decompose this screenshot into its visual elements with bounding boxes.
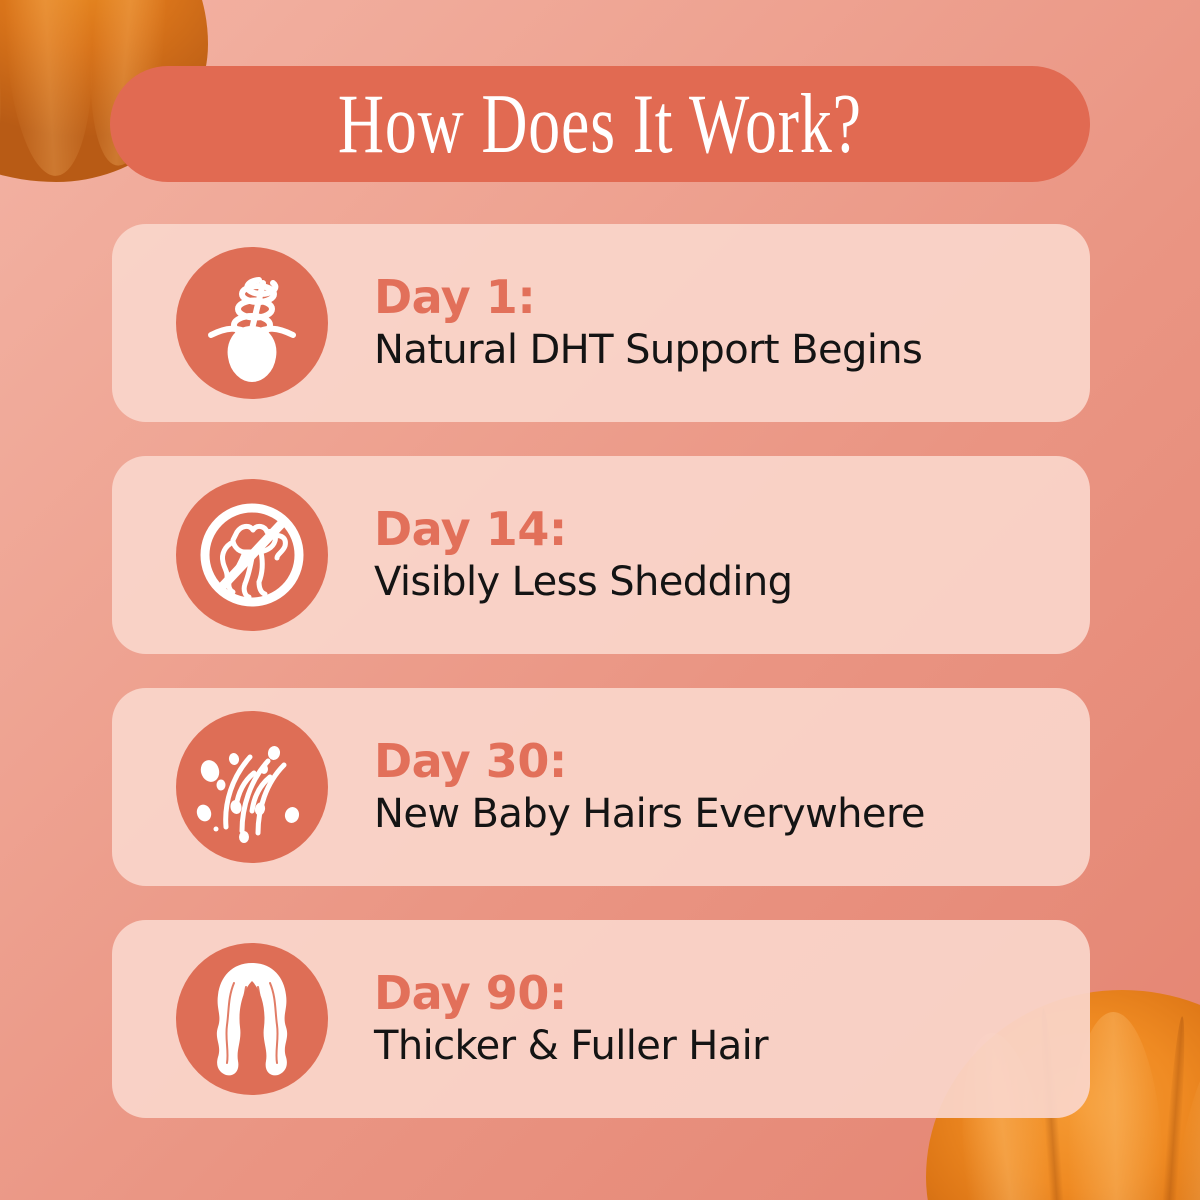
timeline-step-day-1: Day 1: Natural DHT Support Begins	[112, 224, 1090, 422]
timeline-step-day-14: Day 14: Visibly Less Shedding	[112, 456, 1090, 654]
new-hair-growth-icon	[176, 711, 328, 863]
timeline-step-text: Day 90: Thicker & Fuller Hair	[374, 969, 768, 1069]
long-hair-icon	[176, 943, 328, 1095]
timeline-step-day-30: Day 30: New Baby Hairs Everywhere	[112, 688, 1090, 886]
pumpkin-rib	[0, 0, 15, 170]
day-description: Visibly Less Shedding	[374, 559, 792, 605]
day-label: Day 90:	[374, 969, 768, 1019]
day-description: Natural DHT Support Begins	[374, 327, 922, 373]
pumpkin-stem	[1172, 1193, 1200, 1200]
page-title-banner: How Does It Work?	[110, 66, 1090, 182]
day-description: Thicker & Fuller Hair	[374, 1023, 768, 1069]
timeline-list: Day 1: Natural DHT Support Begins	[112, 224, 1090, 1118]
timeline-step-text: Day 1: Natural DHT Support Begins	[374, 273, 922, 373]
page-title: How Does It Work?	[338, 81, 862, 166]
hair-follicle-icon	[176, 247, 328, 399]
timeline-step-text: Day 30: New Baby Hairs Everywhere	[374, 737, 925, 837]
pumpkin-rib	[1158, 1034, 1200, 1200]
day-label: Day 30:	[374, 737, 925, 787]
day-label: Day 14:	[374, 505, 792, 555]
timeline-step-day-90: Day 90: Thicker & Fuller Hair	[112, 920, 1090, 1118]
no-hair-fall-icon	[176, 479, 328, 631]
day-description: New Baby Hairs Everywhere	[374, 791, 925, 837]
pumpkin-seam	[1153, 1016, 1189, 1200]
pumpkin-shadow	[0, 0, 2, 182]
poster-canvas: How Does It Work?	[0, 0, 1200, 1200]
day-label: Day 1:	[374, 273, 922, 323]
pumpkin-rib	[0, 0, 99, 178]
timeline-step-text: Day 14: Visibly Less Shedding	[374, 505, 792, 605]
